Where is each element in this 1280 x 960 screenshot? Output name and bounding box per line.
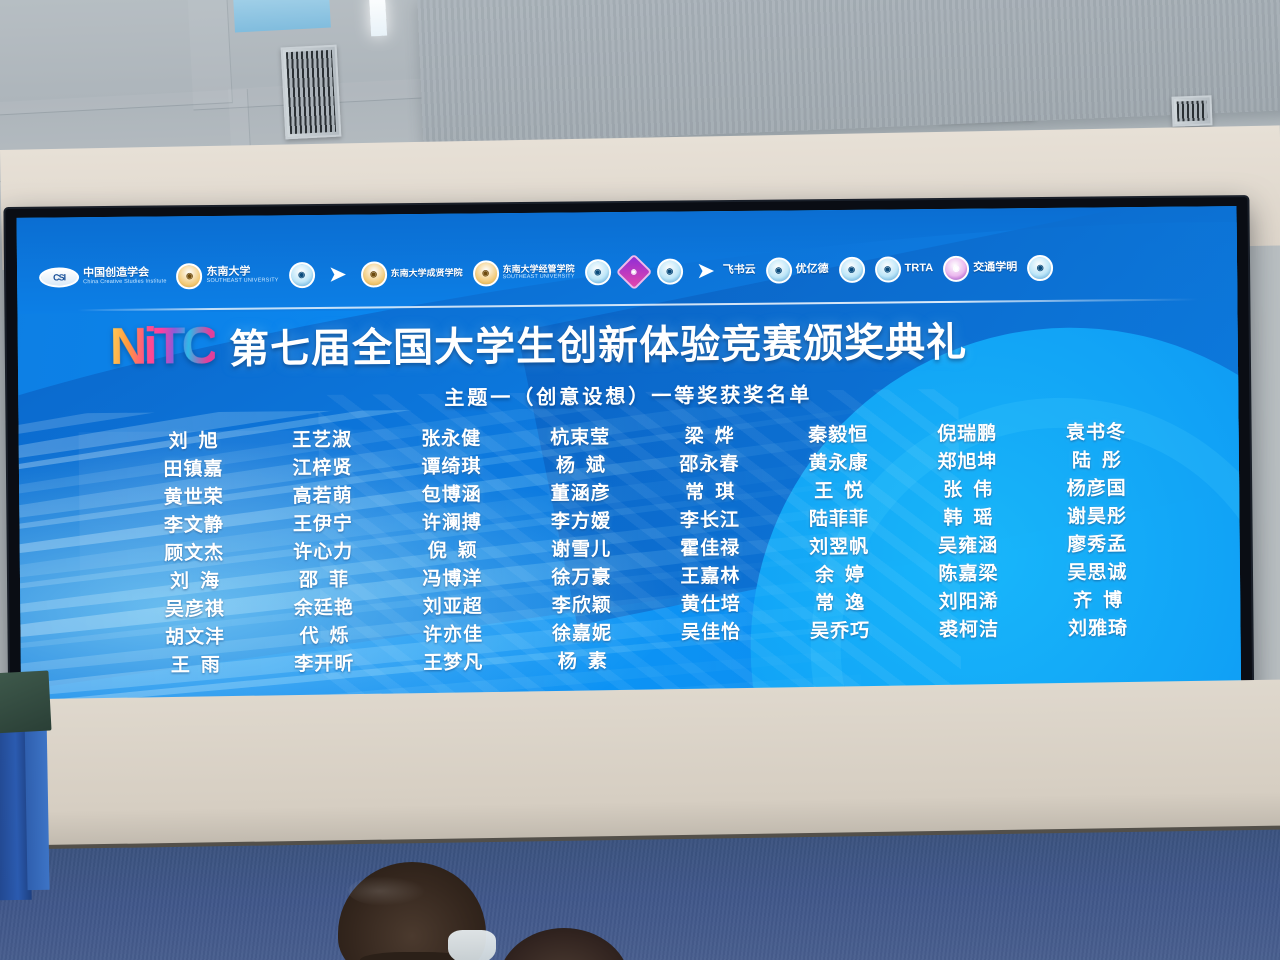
winner-name: 冯博洋 — [390, 565, 515, 594]
teal-icon: ◉ — [766, 257, 792, 283]
winner-name: 黄永康 — [776, 449, 901, 478]
winner-name: 黄世荣 — [131, 484, 256, 513]
sponsor-logo: ◉ — [1027, 251, 1053, 285]
title-row: NiTC 第七届全国大学生创新体验竞赛颁奖典礼 — [109, 305, 1198, 379]
winner-name: 徐嘉妮 — [519, 620, 644, 649]
sponsor-logo: ◉交通学明 — [943, 251, 1017, 286]
winner-name: 常琪 — [647, 479, 772, 508]
winner-name: 陆菲菲 — [776, 505, 901, 534]
sponsor-label: 飞书云 — [723, 265, 756, 277]
winner-name: 王嘉林 — [648, 563, 773, 592]
sponsor-logo: ◉ — [839, 253, 865, 287]
sponsor-logo: ➤ — [324, 258, 350, 292]
shield-icon: ◉ — [472, 260, 498, 286]
winner-name: 齐博 — [1035, 587, 1160, 616]
air-vent — [281, 45, 342, 140]
led-display-wall[interactable]: CSI中国创造学会China Creative Studies Institut… — [5, 197, 1252, 747]
sponsor-logo: ◉东南大学经管学院SOUTHEAST UNIVERSITY — [472, 256, 574, 291]
sponsor-name-cn: 交通学明 — [973, 262, 1017, 274]
winner-name: 刘亚超 — [390, 593, 515, 622]
name-slot-empty — [778, 645, 903, 674]
winner-name: 吴乔巧 — [777, 617, 902, 646]
winner-name: 邵永春 — [647, 451, 772, 480]
sponsor-logo-bar: CSI中国创造学会China Creative Studies Institut… — [39, 240, 1215, 303]
teal-icon: ◉ — [839, 257, 865, 283]
led-screen-surface: CSI中国创造学会China Creative Studies Institut… — [17, 206, 1242, 734]
winner-name: 董涵彦 — [518, 480, 643, 509]
winner-name: 杨斌 — [518, 452, 643, 481]
podium-corner — [0, 670, 52, 733]
bird-icon: ➤ — [324, 262, 350, 288]
sponsor-logo: ➤飞书云 — [693, 254, 756, 289]
winner-name: 郑旭坤 — [905, 448, 1030, 477]
winner-name: 陆彤 — [1034, 447, 1159, 476]
sponsor-logo: ◉东南大学成贤学院 — [360, 257, 462, 292]
winner-name: 余婷 — [777, 561, 902, 590]
name-slot-empty — [649, 647, 774, 676]
winner-name: 代烁 — [261, 622, 386, 651]
winner-name: 梁烨 — [647, 423, 772, 452]
skylight-panel — [233, 0, 331, 32]
winner-name: 杨彦国 — [1034, 475, 1159, 504]
winner-name: 廖秀孟 — [1035, 531, 1160, 560]
teal-icon: ◉ — [875, 256, 901, 282]
name-column: 倪瑞鹏郑旭坤张伟韩瑶吴雍涵陈嘉梁刘阳浠裘柯洁 — [905, 420, 1033, 703]
winner-name: 王悦 — [776, 477, 901, 506]
sponsor-name-cn: 东南大学成贤学院 — [391, 269, 463, 279]
bird-icon: ➤ — [693, 258, 719, 284]
winner-name: 霍佳禄 — [648, 535, 773, 564]
winner-name: 王艺淑 — [260, 426, 385, 455]
winner-name: 吴佳怡 — [648, 619, 773, 648]
winner-name: 韩瑶 — [905, 504, 1030, 533]
sponsor-logo: ◉ — [657, 254, 683, 288]
winner-name: 袁书冬 — [1034, 419, 1159, 448]
winner-name: 吴雍涵 — [906, 532, 1031, 561]
winner-name: 倪颖 — [390, 537, 515, 566]
winner-name: 常逸 — [777, 589, 902, 618]
winner-name: 吴彦祺 — [132, 596, 257, 625]
winner-name: 许亦佳 — [390, 621, 515, 650]
winner-name: 余廷艳 — [261, 594, 386, 623]
shield-icon: ◉ — [360, 261, 386, 287]
sponsor-logo: CSI中国创造学会China Creative Studies Institut… — [39, 259, 167, 294]
winner-name: 顾文杰 — [132, 540, 257, 569]
winner-name: 谢雪儿 — [519, 536, 644, 565]
diamond-icon: ◉ — [615, 254, 652, 291]
name-column: 刘旭田镇嘉黄世荣李文静顾文杰刘海吴彦祺胡文沣王雨 — [131, 428, 259, 711]
sponsor-label: 中国创造学会China Creative Studies Institute — [83, 268, 167, 286]
sponsor-label: 交通学明 — [973, 262, 1017, 274]
winner-name: 李方嫒 — [518, 508, 643, 537]
name-column: 袁书冬陆彤杨彦国谢昊彤廖秀孟吴思诚齐博刘雅琦 — [1034, 419, 1162, 702]
winner-name: 杨素 — [520, 648, 645, 677]
name-column: 秦毅恒黄永康王悦陆菲菲刘翌帆余婷常逸吴乔巧 — [776, 421, 904, 704]
winner-name: 田镇嘉 — [131, 456, 256, 485]
name-column: 杭束莹杨斌董涵彦李方嫒谢雪儿徐万豪李欣颖徐嘉妮杨素 — [518, 424, 646, 707]
name-column: 王艺淑江梓贤高若萌王伊宁许心力邵菲余廷艳代烁李开昕 — [260, 426, 388, 709]
conference-room-scene: CSI中国创造学会China Creative Studies Institut… — [0, 0, 1280, 960]
winner-name: 裘柯洁 — [906, 616, 1031, 645]
winner-name: 许心力 — [261, 538, 386, 567]
sponsor-logo: ◉优亿德 — [766, 253, 829, 288]
winner-name: 刘翌帆 — [777, 533, 902, 562]
sponsor-label: TRTA — [905, 263, 934, 275]
sponsor-label: 东南大学SOUTHEAST UNIVERSITY — [206, 267, 278, 285]
teal-icon: ◉ — [657, 258, 683, 284]
sponsor-name-cn: 飞书云 — [723, 265, 756, 277]
winner-name: 李欣颖 — [519, 592, 644, 621]
winner-name: 杭束莹 — [518, 424, 643, 453]
winner-name: 邵菲 — [261, 566, 386, 595]
name-column: 梁烨邵永春常琪李长江霍佳禄王嘉林黄仕培吴佳怡 — [647, 423, 775, 706]
shield-icon: ◉ — [176, 263, 202, 289]
winner-name-grid: 刘旭田镇嘉黄世荣李文静顾文杰刘海吴彦祺胡文沣王雨王艺淑江梓贤高若萌王伊宁许心力邵… — [131, 419, 1162, 711]
winner-name: 谭绮琪 — [389, 453, 514, 482]
winner-name: 徐万豪 — [519, 564, 644, 593]
winner-name: 李文静 — [131, 512, 256, 541]
sponsor-logo: ◉TRTA — [874, 252, 933, 287]
sponsor-logo: ◉ — [585, 255, 611, 289]
sponsor-name-en: China Creative Studies Institute — [83, 279, 167, 286]
air-vent — [1171, 95, 1212, 126]
teal-icon: ◉ — [585, 259, 611, 285]
winner-name: 黄仕培 — [648, 591, 773, 620]
page-subtitle: 主题一（创意设想）一等奖获奖名单 — [18, 374, 1238, 415]
sponsor-label: 东南大学经管学院SOUTHEAST UNIVERSITY — [503, 265, 575, 281]
winner-name: 李开昕 — [262, 650, 387, 679]
winner-name: 李长江 — [647, 507, 772, 536]
ceiling-panel-right — [417, 0, 1280, 146]
sponsor-logo: ◉东南大学SOUTHEAST UNIVERSITY — [176, 258, 278, 293]
name-slot-empty — [907, 644, 1032, 673]
name-column: 张永健谭绮琪包博涵许澜搏倪颖冯博洋刘亚超许亦佳王梦凡 — [389, 425, 517, 708]
winner-name: 许澜搏 — [389, 509, 514, 538]
sponsor-name-cn: 优亿德 — [796, 264, 829, 276]
sponsor-label: 东南大学成贤学院 — [391, 269, 463, 279]
screen-content: CSI中国创造学会China Creative Studies Institut… — [17, 206, 1242, 734]
face-mask — [448, 930, 496, 960]
pink-icon: ◉ — [943, 256, 969, 282]
winner-name: 王伊宁 — [260, 510, 385, 539]
winner-name: 刘旭 — [131, 428, 256, 457]
ceiling-light — [369, 0, 387, 36]
sponsor-logo: ◉ — [288, 258, 314, 292]
winner-name: 谢昊彤 — [1034, 503, 1159, 532]
stage-side-panel — [24, 710, 49, 890]
sponsor-label: 优亿德 — [796, 264, 829, 276]
winner-name: 王梦凡 — [391, 649, 516, 678]
winner-name: 高若萌 — [260, 482, 385, 511]
sponsor-logo: ◉ — [621, 255, 647, 289]
winner-name: 胡文沣 — [132, 624, 257, 653]
teal-icon: ◉ — [288, 262, 314, 288]
winner-name: 张永健 — [389, 425, 514, 454]
winner-name: 包博涵 — [389, 481, 514, 510]
nitc-logo: NiTC — [110, 320, 216, 373]
page-title: 第七届全国大学生创新体验竞赛颁奖典礼 — [229, 310, 968, 375]
winner-name: 刘海 — [132, 568, 257, 597]
winner-name: 刘阳浠 — [906, 588, 1031, 617]
winner-name: 倪瑞鹏 — [905, 420, 1030, 449]
sponsor-name-cn: TRTA — [905, 263, 934, 275]
winner-name: 刘雅琦 — [1035, 615, 1160, 644]
winner-name: 江梓贤 — [260, 454, 385, 483]
sponsor-name-en: SOUTHEAST UNIVERSITY — [207, 278, 279, 284]
teal-icon: ◉ — [1027, 255, 1053, 281]
winner-name: 张伟 — [905, 476, 1030, 505]
winner-name: 王雨 — [133, 652, 258, 681]
sponsor-name-en: SOUTHEAST UNIVERSITY — [503, 274, 575, 280]
winner-name: 秦毅恒 — [776, 421, 901, 450]
winner-name: 吴思诚 — [1035, 559, 1160, 588]
carpet-floor — [0, 829, 1280, 960]
ellipse-icon: CSI — [39, 267, 79, 287]
winner-name: 陈嘉梁 — [906, 560, 1031, 589]
name-slot-empty — [1036, 643, 1161, 672]
